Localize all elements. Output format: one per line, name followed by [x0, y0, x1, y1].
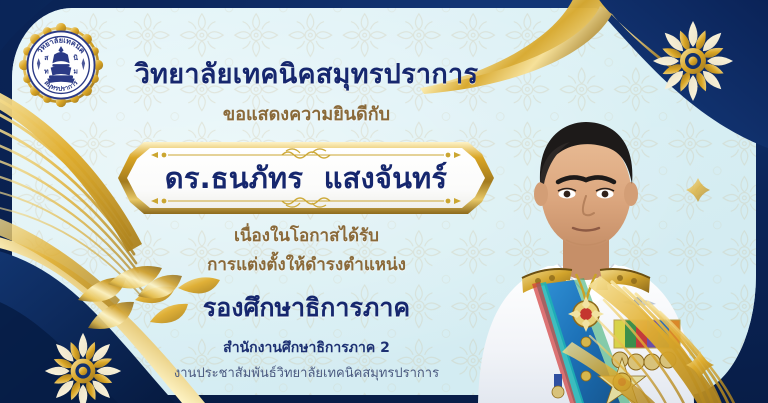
svg-text:ท: ท [44, 68, 49, 76]
honoree-name-plaque: ดร.ธนภัทร แสงจันทร์ [110, 138, 502, 218]
congratulation-line: ขอแสดงความยินดีกับ [104, 99, 509, 128]
bottom-left-gold-flower-ornament [42, 330, 124, 403]
occasion-line-2: การแต่งตั้งให้ดำรงตำแหน่ง [104, 251, 509, 278]
honoree-name: ดร.ธนภัทร แสงจันทร์ [110, 138, 502, 218]
office-name: สำนักงานศึกษาธิการภาค 2 [104, 337, 509, 359]
institution-title: วิทยาลัยเทคนิคสมุทรปราการ [104, 52, 509, 95]
credit-line: งานประชาสัมพันธ์วิทยาลัยเทคนิคสมุทรปรากา… [104, 362, 509, 383]
position-title: รองศึกษาธิการภาค [104, 288, 509, 328]
banner-text-content: วิทยาลัยเทคนิคสมุทรปราการ ขอแสดงความยินด… [104, 0, 509, 403]
top-right-gold-flower-ornament [650, 18, 736, 104]
svg-text:นิ: นิ [73, 54, 78, 62]
congratulation-banner: วิทยาลัยเทคนิค สมุทรปราการ ส นิ ท ม [0, 0, 768, 403]
occasion-line-1: เนื่องในโอกาสได้รับ [104, 222, 509, 249]
college-seal-logo: วิทยาลัยเทคนิค สมุทรปราการ ส นิ ท ม [18, 22, 104, 108]
svg-text:ม: ม [73, 68, 78, 76]
